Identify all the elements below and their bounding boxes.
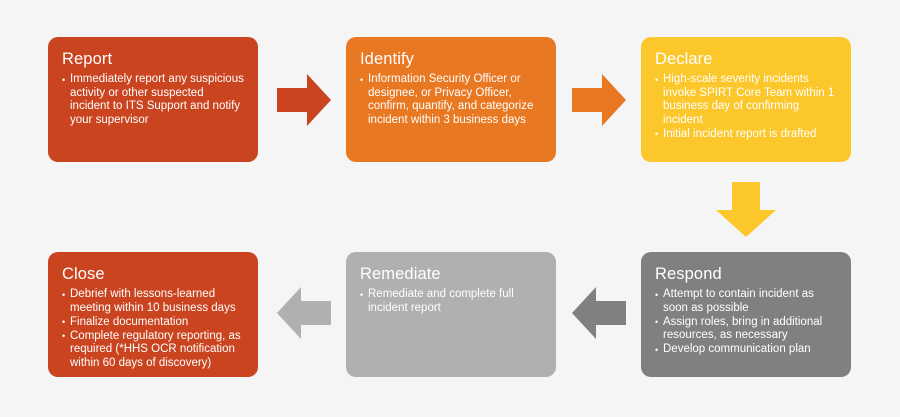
arrow-right-icon	[572, 72, 626, 128]
list-item: Assign roles, bring in additional resour…	[655, 316, 839, 343]
arrow-right-icon	[277, 72, 331, 128]
node-bullet-list: Immediately report any suspicious activi…	[62, 73, 246, 127]
list-item: Attempt to contain incident as soon as p…	[655, 288, 839, 315]
arrow-down-icon	[714, 182, 778, 237]
node-remediate[interactable]: Remediate Remediate and complete full in…	[346, 252, 556, 377]
node-title: Close	[62, 264, 246, 284]
list-item: Remediate and complete full incident rep…	[360, 288, 544, 315]
node-report[interactable]: Report Immediately report any suspicious…	[48, 37, 258, 162]
list-item: Complete regulatory reporting, as requir…	[62, 330, 246, 371]
node-title: Identify	[360, 49, 544, 69]
node-bullet-list: Information Security Officer or designee…	[360, 73, 544, 127]
flowchart-canvas: Report Immediately report any suspicious…	[0, 0, 900, 417]
node-title: Respond	[655, 264, 839, 284]
node-title: Report	[62, 49, 246, 69]
list-item: High-scale severity incidents invoke SPI…	[655, 73, 839, 127]
list-item: Immediately report any suspicious activi…	[62, 73, 246, 127]
node-respond[interactable]: Respond Attempt to contain incident as s…	[641, 252, 851, 377]
node-title: Remediate	[360, 264, 544, 284]
arrow-left-icon	[572, 285, 626, 341]
list-item: Initial incident report is drafted	[655, 128, 839, 142]
node-close[interactable]: Close Debrief with lessons-learned meeti…	[48, 252, 258, 377]
node-bullet-list: Attempt to contain incident as soon as p…	[655, 288, 839, 357]
node-bullet-list: High-scale severity incidents invoke SPI…	[655, 73, 839, 141]
node-title: Declare	[655, 49, 839, 69]
node-bullet-list: Debrief with lessons-learned meeting wit…	[62, 288, 246, 371]
arrow-left-icon	[277, 285, 331, 341]
list-item: Debrief with lessons-learned meeting wit…	[62, 288, 246, 315]
node-declare[interactable]: Declare High-scale severity incidents in…	[641, 37, 851, 162]
list-item: Information Security Officer or designee…	[360, 73, 544, 127]
node-bullet-list: Remediate and complete full incident rep…	[360, 288, 544, 315]
list-item: Develop communication plan	[655, 343, 839, 357]
list-item: Finalize documentation	[62, 316, 246, 330]
node-identify[interactable]: Identify Information Security Officer or…	[346, 37, 556, 162]
